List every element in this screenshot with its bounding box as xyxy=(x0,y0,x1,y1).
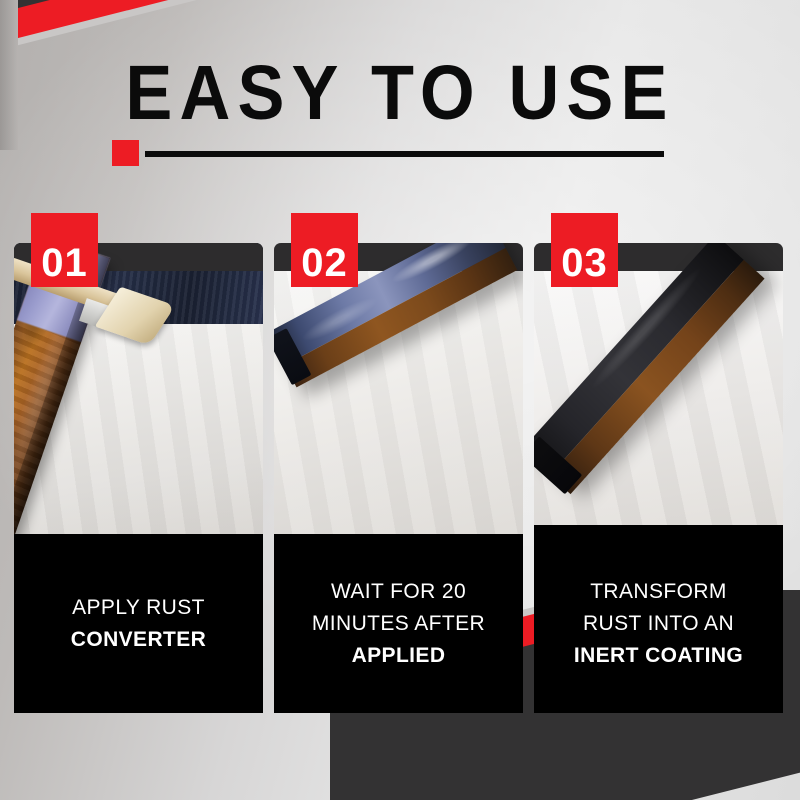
caption-emphasis: INERT COATING xyxy=(574,643,743,668)
photo-bottom-strip-3 xyxy=(534,525,783,534)
caption-emphasis: CONVERTER xyxy=(71,627,206,652)
caption-line: APPLY RUST xyxy=(72,595,205,620)
page-title: EASY TO USE xyxy=(0,52,800,135)
step-badge-2: 02 xyxy=(291,213,358,287)
heading-block: EASY TO USE xyxy=(0,52,800,126)
caption-line: TRANSFORM xyxy=(590,579,727,604)
title-accent-square xyxy=(112,140,139,166)
title-underline xyxy=(112,140,692,168)
step-caption-2: WAIT FOR 20 MINUTES AFTER APPLIED xyxy=(274,534,523,713)
step-badge-1: 01 xyxy=(31,213,98,287)
step-badge-3: 03 xyxy=(551,213,618,287)
caption-line: RUST INTO AN xyxy=(583,611,734,636)
step-card-2[interactable]: 02 WAIT FOR 20 MINUTES AFTER APPLIED xyxy=(274,243,523,713)
step-caption-3: TRANSFORM RUST INTO AN INERT COATING xyxy=(534,534,783,713)
caption-emphasis: APPLIED xyxy=(352,643,446,668)
step-card-1[interactable]: 01 APPLY RUST CONVERTER xyxy=(14,243,263,713)
step-caption-1: APPLY RUST CONVERTER xyxy=(14,534,263,713)
title-rule-line xyxy=(145,151,664,157)
caption-line: MINUTES AFTER xyxy=(312,611,485,636)
caption-line: WAIT FOR 20 xyxy=(331,579,466,604)
step-card-3[interactable]: 03 TRANSFORM RUST INTO AN INERT COATING xyxy=(534,243,783,713)
steps-row: 01 APPLY RUST CONVERTER 02 xyxy=(14,243,786,713)
